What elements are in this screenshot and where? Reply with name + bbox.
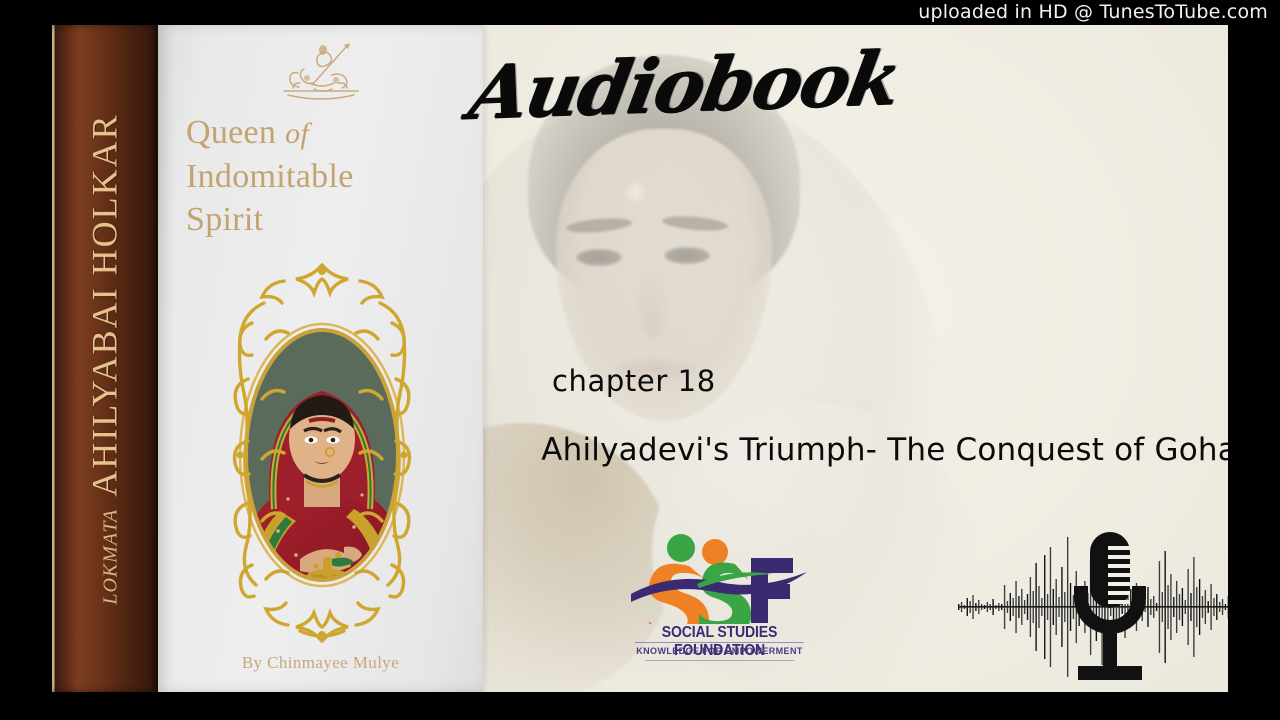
- letterbox-bar-bottom: [0, 692, 1280, 720]
- royal-crest-icon: [272, 39, 370, 107]
- cover-title-line-1: Queen: [186, 114, 276, 151]
- ssf-logo: SOCIAL STUDIES FOUNDATION KNOWLEDGE FOR …: [627, 528, 812, 668]
- book-spine-prefix: LOKMATA: [100, 508, 123, 604]
- book-spine: LOKMATA AHILYABAI HOLKAR: [52, 25, 158, 692]
- ssf-monogram-icon: [627, 528, 812, 624]
- video-thumbnail-frame: uploaded in HD @ TunesToTube.com: [0, 0, 1280, 720]
- letterbox-bar-right: [1228, 0, 1280, 720]
- portrait-bindi: [625, 179, 645, 205]
- cover-title-of: of: [285, 117, 309, 150]
- portrait-eye-left: [576, 249, 622, 266]
- book-cover-title: Queen of Indomitable Spirit: [186, 111, 456, 242]
- cover-title-line-3: Spirit: [186, 201, 263, 238]
- letterbox-bar-left: [0, 0, 52, 720]
- book-image: LOKMATA AHILYABAI HOLKAR: [52, 25, 483, 692]
- cover-title-line-2: Indomitable: [186, 158, 354, 195]
- book-author-credit: By Chinmayee Mulye: [158, 653, 483, 673]
- slide-content-area: LOKMATA AHILYABAI HOLKAR: [52, 25, 1228, 692]
- book-front-cover: Queen of Indomitable Spirit: [158, 25, 483, 692]
- audio-mic-graphic: [950, 520, 1228, 692]
- book-spine-text-wrap: LOKMATA AHILYABAI HOLKAR: [52, 25, 158, 692]
- ssf-tagline: KNOWLEDGE FOR EMPOWERMENT: [627, 646, 812, 656]
- cover-portrait-frame: [204, 259, 440, 647]
- audiobook-heading: Audiobook: [463, 36, 905, 137]
- ssf-divider-bottom: [645, 660, 794, 661]
- chapter-number-label: chapter 18: [552, 364, 716, 398]
- book-spine-title: AHILYABAI HOLKAR: [84, 113, 126, 496]
- microphone-icon: [1074, 532, 1146, 680]
- portrait-nose: [638, 261, 672, 339]
- portrait-eye-right: [664, 247, 710, 264]
- chapter-title: Ahilyadevi's Triumph- The Conquest of Go…: [539, 425, 1228, 475]
- upload-banner: uploaded in HD @ TunesToTube.com: [0, 0, 1280, 25]
- upload-banner-text: uploaded in HD @ TunesToTube.com: [918, 1, 1268, 23]
